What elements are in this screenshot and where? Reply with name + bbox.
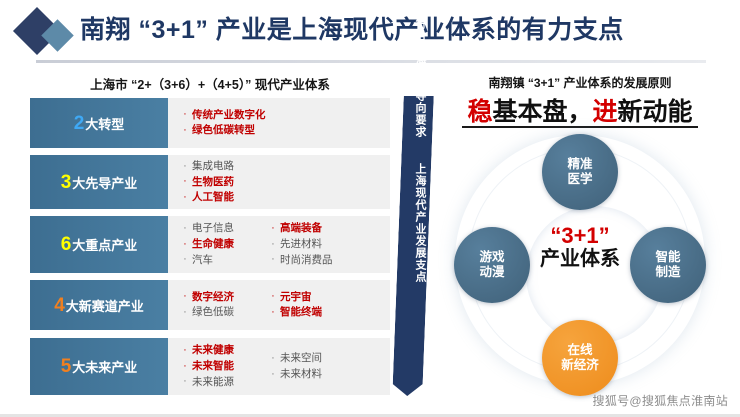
bullet-label: 生命健康 [192,237,234,252]
left-panel-heading: 上海市 “2+（3+6）+（4+5）” 现代产业体系 [30,74,390,93]
header-divider [36,60,706,63]
bullet-dot-icon: · [266,252,280,268]
ribbon-top-text: 符合上海产业导向要求 [398,10,428,145]
bullet-item: ·智能终端 [266,305,350,321]
slogan-part-3: 新动能 [618,98,693,126]
bullet-dot-icon: · [178,305,192,321]
bullet-dot-icon: · [178,237,192,253]
diagram-center-label: “3+1” 产业体系 [510,224,650,271]
bullet-dot-icon: · [178,343,192,359]
diagram-node-top[interactable]: 精准 医学 [542,134,618,210]
tier-word: 大先导产业 [72,173,137,192]
bullet-dot-icon: · [178,107,192,123]
bullet-item: ·人工智能 [178,190,262,206]
tier-row[interactable]: 6大重点产业·电子信息·生命健康·汽车·高端装备·先进材料·时尚消费品 [30,216,390,273]
slide-header: 南翔 “3+1” 产业是上海现代产业体系的有力支点 [0,0,740,66]
right-panel-heading: 南翔镇 “3+1” 产业体系的发展原则 [432,74,728,91]
bullet-label: 绿色低碳 [192,305,234,320]
diagram-center-line1: “3+1” [510,224,650,247]
diagram-node-bottom[interactable]: 在线 新经济 [542,320,618,396]
bullet-column: ·传统产业数字化·绿色低碳转型 [178,107,266,138]
bullet-dot-icon: · [178,221,192,237]
bullet-column: ·未来空间·未来材料 [266,351,350,382]
bullet-column: ·高端装备·先进材料·时尚消费品 [266,221,350,268]
bullet-dot-icon: · [178,123,192,139]
bullet-item: ·绿色低碳 [178,305,262,321]
bullet-item: ·未来智能 [178,359,262,375]
bullet-dot-icon: · [178,359,192,375]
tier-word: 大未来产业 [72,357,137,376]
tier-body: ·数字经济·绿色低碳·元宇宙·智能终端 [168,280,390,330]
tier-number: 6 [61,235,72,254]
circle-diagram: 精准 医学 游戏 动漫 智能 制造 在线 新经济 “3+1” 产业体系 [454,134,706,396]
tier-label-6: 6大重点产业 [30,216,168,273]
bullet-label: 传统产业数字化 [192,108,266,123]
bullet-column: ·集成电路·生物医药·人工智能 [178,159,262,206]
bullet-label: 电子信息 [192,221,234,236]
bullet-label: 数字经济 [192,290,234,305]
slogan-part-1: 基本盘， [492,98,592,126]
bullet-item: ·电子信息 [178,221,262,237]
tier-word: 大转型 [85,114,124,133]
tier-body: ·传统产业数字化·绿色低碳转型 [168,98,390,148]
bullet-item: ·传统产业数字化 [178,107,266,123]
bullet-dot-icon: · [266,367,280,383]
bullet-dot-icon: · [266,289,280,305]
tier-row[interactable]: 3大先导产业·集成电路·生物医药·人工智能 [30,155,390,209]
diagram-center-line2: 产业体系 [510,248,650,271]
tier-row[interactable]: 5大未来产业·未来健康·未来智能·未来能源·未来空间·未来材料 [30,338,390,395]
bullet-item: ·高端装备 [266,221,350,237]
tier-label-5: 5大未来产业 [30,338,168,395]
bullet-label: 智能终端 [280,305,322,320]
tier-body: ·电子信息·生命健康·汽车·高端装备·先进材料·时尚消费品 [168,216,390,273]
bullet-dot-icon: · [266,305,280,321]
bullet-dot-icon: · [178,252,192,268]
bullet-label: 汽车 [192,253,213,268]
bullet-item: ·元宇宙 [266,289,350,305]
double-diamond-logo [16,8,88,60]
bullet-item: ·未来空间 [266,351,350,367]
slogan-underline [462,126,698,128]
bullet-item: ·未来能源 [178,374,262,390]
bullet-item: ·未来健康 [178,343,262,359]
bullet-dot-icon: · [266,237,280,253]
tier-row[interactable]: 4大新赛道产业·数字经济·绿色低碳·元宇宙·智能终端 [30,280,390,330]
slogan-part-0: 稳 [467,98,492,126]
bullet-item: ·绿色低碳转型 [178,123,266,139]
bullet-label: 元宇宙 [280,290,312,305]
tier-number: 4 [54,296,65,315]
bullet-dot-icon: · [178,190,192,206]
bullet-item: ·时尚消费品 [266,252,350,268]
bullet-dot-icon: · [178,174,192,190]
tier-number: 2 [74,114,85,133]
bullet-dot-icon: · [178,374,192,390]
node-left-line1: 游戏 [479,250,504,265]
tier-word: 大新赛道产业 [66,296,144,315]
bullet-item: ·数字经济 [178,289,262,305]
bullet-item: ·生命健康 [178,237,262,253]
bullet-column: ·元宇宙·智能终端 [266,289,350,320]
bullet-label: 高端装备 [280,221,322,236]
bullet-column: ·数字经济·绿色低碳 [178,289,262,320]
bullet-label: 未来空间 [280,351,322,366]
node-top-line1: 精准 [567,157,592,172]
watermark-text: 搜狐号@搜狐焦点淮南站 [593,392,728,409]
left-panel: 上海市 “2+（3+6）+（4+5）” 现代产业体系 2大转型·传统产业数字化·… [30,70,390,405]
right-panel: 南翔镇 “3+1” 产业体系的发展原则 稳基本盘，进新动能 精准 医学 游戏 动… [432,70,728,405]
bullet-item: ·集成电路 [178,159,262,175]
tier-word: 大重点产业 [72,235,137,254]
tier-body: ·未来健康·未来智能·未来能源·未来空间·未来材料 [168,338,390,395]
bullet-label: 生物医药 [192,175,234,190]
bullet-label: 人工智能 [192,190,234,205]
bullet-dot-icon: · [266,351,280,367]
tier-label-3: 3大先导产业 [30,155,168,209]
tier-number: 3 [61,173,72,192]
tier-number: 5 [61,357,72,376]
node-top-line2: 医学 [567,172,592,187]
node-bottom-line2: 新经济 [561,358,599,373]
node-left-line2: 动漫 [479,265,504,280]
right-panel-slogan: 稳基本盘，进新动能 [432,92,728,128]
bullet-column: ·未来健康·未来智能·未来能源 [178,343,262,390]
ribbon-bottom-text: 上海现代产业发展支点 [398,155,428,290]
bullet-column: ·电子信息·生命健康·汽车 [178,221,262,268]
bullet-label: 未来能源 [192,375,234,390]
tier-row[interactable]: 2大转型·传统产业数字化·绿色低碳转型 [30,98,390,148]
bullet-item: ·先进材料 [266,237,350,253]
bullet-label: 未来材料 [280,367,322,382]
tier-label-4: 4大新赛道产业 [30,280,168,330]
bullet-label: 集成电路 [192,159,234,174]
bullet-dot-icon: · [178,289,192,305]
bullet-dot-icon: · [266,221,280,237]
node-right-line1: 智能 [655,250,680,265]
tier-label-2: 2大转型 [30,98,168,148]
bullet-dot-icon: · [178,159,192,175]
node-right-line2: 制造 [655,265,680,280]
tier-body: ·集成电路·生物医药·人工智能 [168,155,390,209]
bullet-item: ·未来材料 [266,367,350,383]
bullet-label: 未来健康 [192,343,234,358]
bullet-item: ·汽车 [178,252,262,268]
bullet-label: 绿色低碳转型 [192,123,255,138]
bullet-item: ·生物医药 [178,174,262,190]
page-title: 南翔 “3+1” 产业是上海现代产业体系的有力支点 [80,10,624,46]
slide-canvas: 南翔 “3+1” 产业是上海现代产业体系的有力支点 上海市 “2+（3+6）+（… [0,0,740,417]
bullet-label: 未来智能 [192,359,234,374]
bullet-label: 时尚消费品 [280,253,333,268]
bullet-label: 先进材料 [280,237,322,252]
node-bottom-line1: 在线 [567,343,592,358]
slogan-part-2: 进 [593,98,618,126]
